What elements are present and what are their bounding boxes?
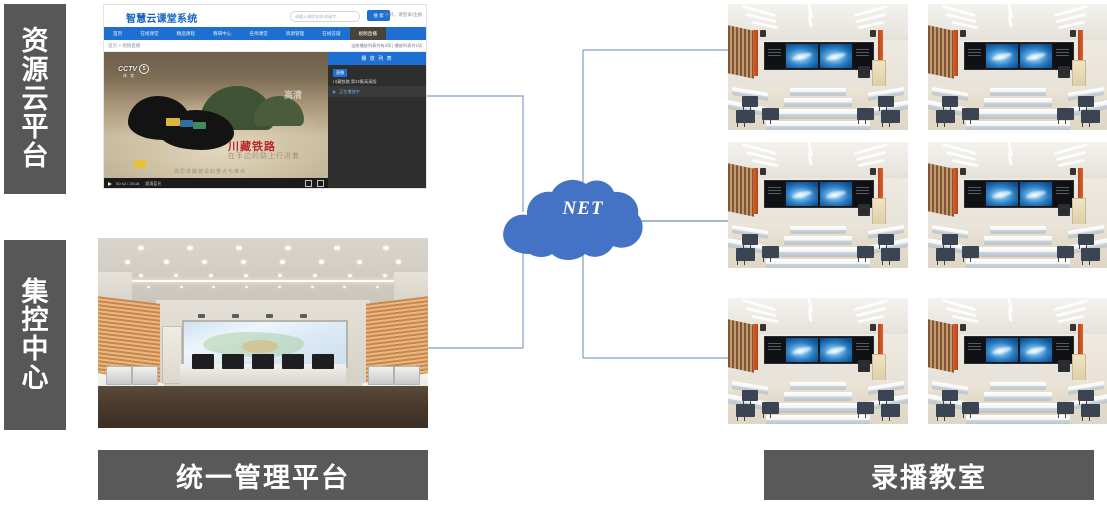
side-label-char: 云 bbox=[22, 85, 49, 114]
side-label-char: 控 bbox=[22, 306, 49, 335]
video-quality-label[interactable]: 超清蓝光 bbox=[145, 181, 161, 187]
nav-item-3[interactable]: 教研中心 bbox=[204, 27, 240, 40]
orange-pillar-left bbox=[753, 30, 758, 76]
nav-item-4[interactable]: 名师课堂 bbox=[240, 27, 276, 40]
classroom-thumbnail-1 bbox=[728, 4, 908, 130]
nav-item-7-active[interactable]: 视频直播 bbox=[350, 27, 386, 40]
platform-header: 智慧云课堂系统 请输入课程名称/关键字 搜 索 你好，请登录/注册 bbox=[104, 5, 426, 27]
side-label-resource-cloud-platform: 资 源 云 平 台 bbox=[4, 4, 66, 194]
side-monitor-right-2 bbox=[368, 366, 394, 385]
side-label-char: 平 bbox=[22, 113, 49, 142]
control-center-photo bbox=[98, 238, 428, 428]
console-monitor bbox=[252, 354, 274, 369]
fullscreen-icon[interactable] bbox=[317, 180, 324, 187]
orange-pillar-left bbox=[953, 324, 958, 370]
cctv-channel-number: 5 bbox=[139, 64, 149, 74]
console-monitor bbox=[192, 354, 214, 369]
video-overlay-caption: 高原铁路建设的重点与难点 bbox=[174, 168, 246, 175]
classroom-thumbnail-5 bbox=[728, 298, 908, 424]
side-monitor-right bbox=[394, 366, 420, 385]
orange-pillar-left bbox=[753, 168, 758, 214]
equipment-cart bbox=[858, 204, 870, 216]
nav-item-1[interactable]: 在线课堂 bbox=[131, 27, 167, 40]
window-curtain bbox=[928, 25, 954, 79]
window-curtain bbox=[928, 163, 954, 217]
platform-breadcrumb-bar: 首页 > 视频直播 当前播放列表共有3项 | 播放列表共1项 bbox=[104, 40, 426, 52]
search-placeholder: 请输入课程名称/关键字 bbox=[295, 13, 336, 20]
nav-item-0[interactable]: 首页 bbox=[104, 27, 131, 40]
side-monitor-left bbox=[106, 366, 132, 385]
nav-item-6[interactable]: 在线答疑 bbox=[313, 27, 349, 40]
side-label-char: 中 bbox=[22, 335, 49, 364]
video-player[interactable]: CCTV 5 体 育 高清 川藏铁路 在手边的路上行进着 高原铁路建设的重点与难… bbox=[104, 52, 328, 188]
diagram-canvas: 资 源 云 平 台 集 控 中 心 智慧云课堂系统 请输入课程名称/关键字 搜 … bbox=[0, 0, 1107, 510]
console-monitor bbox=[312, 354, 334, 369]
playlist-panel: 播 放 列 表 直播 川藏铁路 第24集高清版 正在播放中 bbox=[328, 52, 426, 188]
orange-pillar-left bbox=[953, 30, 958, 76]
bottom-label-recording-classroom: 录播教室 bbox=[764, 450, 1094, 500]
bottom-label-unified-management-platform: 统一管理平台 bbox=[98, 450, 428, 500]
ceiling-cove-light bbox=[120, 280, 406, 282]
orange-pillar-left bbox=[953, 168, 958, 214]
classroom-thumbnail-6 bbox=[928, 298, 1107, 424]
video-quality-watermark: 高清 bbox=[284, 88, 302, 101]
platform-search-input[interactable]: 请输入课程名称/关键字 bbox=[290, 11, 360, 22]
equipment-cart bbox=[1058, 66, 1070, 78]
cctv-text: CCTV bbox=[118, 66, 137, 73]
floor bbox=[98, 386, 428, 428]
orange-pillar-left bbox=[753, 324, 758, 370]
breadcrumb-playlist-count: 当前播放列表共有3项 | 播放列表共1项 bbox=[351, 43, 422, 49]
door bbox=[162, 326, 182, 384]
side-label-control-center: 集 控 中 心 bbox=[4, 240, 66, 430]
network-cloud-shape bbox=[496, 172, 646, 272]
cctv-sub-label: 体 育 bbox=[123, 73, 135, 79]
window-curtain bbox=[728, 25, 754, 79]
nav-item-5[interactable]: 资源管理 bbox=[277, 27, 313, 40]
side-label-char: 台 bbox=[22, 142, 49, 171]
side-label-char: 源 bbox=[22, 56, 49, 85]
platform-nav-bar: 首页 在线课堂 精品课程 教研中心 名师课堂 资源管理 在线答疑 视频直播 bbox=[104, 27, 426, 40]
platform-user-area[interactable]: 你好，请登录/注册 bbox=[385, 12, 422, 18]
playlist-panel-header: 播 放 列 表 bbox=[328, 52, 426, 65]
console-monitor bbox=[222, 354, 244, 369]
playlist-item-label: 正在播放中 bbox=[339, 89, 360, 95]
play-triangle-icon bbox=[333, 90, 336, 94]
resource-cloud-platform-screenshot: 智慧云课堂系统 请输入课程名称/关键字 搜 索 你好，请登录/注册 首页 在线课… bbox=[104, 5, 426, 188]
side-monitor-left-2 bbox=[132, 366, 158, 385]
video-timecode: 00:42 / 25:18 bbox=[116, 181, 139, 186]
classroom-thumbnail-4 bbox=[928, 142, 1107, 268]
video-overlay-subtitle: 在手边的路上行进着 bbox=[228, 151, 300, 161]
video-control-bar[interactable]: 00:42 / 25:18 超清蓝光 bbox=[104, 178, 328, 188]
side-label-char: 资 bbox=[22, 27, 49, 56]
platform-logo: 智慧云课堂系统 bbox=[126, 10, 197, 25]
equipment-cart bbox=[858, 66, 870, 78]
classroom-thumbnail-3 bbox=[728, 142, 908, 268]
side-label-char: 心 bbox=[22, 364, 49, 393]
classroom-thumbnail-2 bbox=[928, 4, 1107, 130]
nav-item-2[interactable]: 精品课程 bbox=[168, 27, 204, 40]
playlist-live-tag: 直播 bbox=[333, 69, 347, 77]
volume-icon[interactable] bbox=[305, 180, 312, 187]
breadcrumb: 首页 > 视频直播 bbox=[108, 43, 140, 49]
window-curtain bbox=[728, 319, 754, 373]
playlist-meta: 川藏铁路 第24集高清版 bbox=[333, 79, 377, 85]
window-curtain bbox=[928, 319, 954, 373]
play-icon[interactable] bbox=[108, 182, 112, 186]
video-control-right-group bbox=[305, 180, 324, 187]
window-curtain bbox=[728, 163, 754, 217]
equipment-cart bbox=[858, 360, 870, 372]
platform-body: CCTV 5 体 育 高清 川藏铁路 在手边的路上行进着 高原铁路建设的重点与难… bbox=[104, 52, 426, 188]
console-monitor bbox=[282, 354, 304, 369]
side-label-char: 集 bbox=[22, 278, 49, 307]
network-cloud-label: NET bbox=[524, 198, 642, 220]
playlist-item-active[interactable]: 正在播放中 bbox=[328, 86, 426, 97]
equipment-cart bbox=[1058, 360, 1070, 372]
equipment-cart bbox=[1058, 204, 1070, 216]
